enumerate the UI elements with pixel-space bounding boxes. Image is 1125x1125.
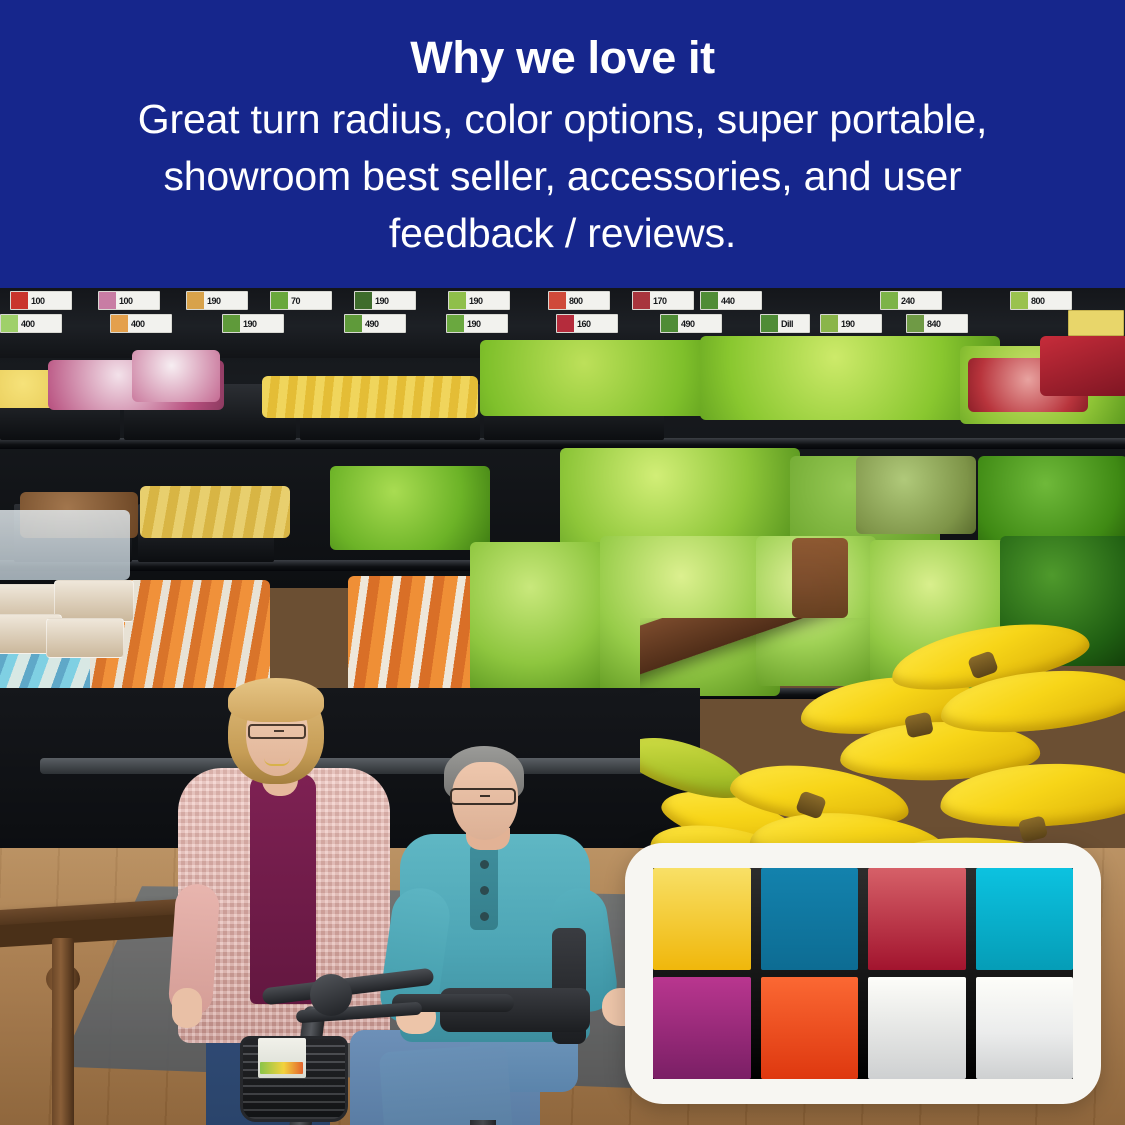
color-swatch-white[interactable]	[976, 977, 1074, 1079]
page-title: Why we love it	[410, 31, 714, 85]
color-options-panel	[625, 843, 1101, 1104]
scooter-tiller-hub	[310, 974, 352, 1016]
price-tag: 100	[10, 291, 72, 310]
price-tag: 840	[906, 314, 968, 333]
color-swatch-yellow[interactable]	[761, 868, 859, 970]
produce-turnips	[132, 350, 220, 402]
color-swatch-black[interactable]	[653, 868, 751, 970]
price-tag: 490	[344, 314, 406, 333]
price-tag: 490	[660, 314, 722, 333]
price-tag: 190	[820, 314, 882, 333]
color-swatch-orange[interactable]	[868, 977, 966, 1079]
price-tag: 800	[1010, 291, 1072, 310]
price-tag: 800	[548, 291, 610, 310]
price-tag: 170	[632, 291, 694, 310]
produce-celery	[330, 466, 490, 550]
header-description: Great turn radius, color options, super …	[68, 91, 1058, 262]
price-tag: 240	[880, 291, 942, 310]
woman-hair-front	[228, 678, 324, 722]
color-swatch-cyan[interactable]	[653, 977, 751, 1079]
header-banner: Why we love it Great turn radius, color …	[0, 0, 1125, 288]
color-swatch-blue[interactable]	[868, 868, 966, 970]
produce-red-chard	[1040, 336, 1125, 396]
produce-bagged-carrots	[348, 576, 488, 694]
header-description-line-3: feedback / reviews.	[68, 205, 1058, 262]
woman-hand	[172, 988, 202, 1028]
scooter-basket-item	[258, 1038, 306, 1078]
produce-artichokes	[856, 456, 976, 534]
man-shirt-button	[480, 886, 489, 895]
man-eyeglasses	[450, 788, 516, 805]
banana-stem	[1018, 815, 1049, 843]
price-tag: 190	[186, 291, 248, 310]
price-tag: 70	[270, 291, 332, 310]
price-tag-row: 100 100 190 70 190 190 800 170 440 240 8…	[0, 288, 1125, 336]
price-tag: 400	[0, 314, 62, 333]
produce-bagged-salad	[0, 510, 130, 580]
woman-shirt-front	[250, 774, 316, 1004]
price-tag: 190	[448, 291, 510, 310]
produce-curly-lettuce	[700, 336, 1000, 420]
display-table-leg	[52, 938, 74, 1125]
price-tag: 160	[556, 314, 618, 333]
price-tag: Dill	[760, 314, 810, 333]
price-tag: 190	[222, 314, 284, 333]
produce-red-leaf	[792, 538, 848, 618]
produce-yellow-beets	[262, 376, 478, 418]
price-tag: 190	[446, 314, 508, 333]
color-swatch-magenta[interactable]	[761, 977, 859, 1079]
woman-necklace	[264, 758, 290, 766]
header-description-line-1: Great turn radius, color options, super …	[68, 91, 1058, 148]
price-tag: 100	[98, 291, 160, 310]
header-description-line-2: showroom best seller, accessories, and u…	[68, 148, 1058, 205]
bakery-package	[54, 580, 134, 622]
color-swatch-grid	[653, 868, 1073, 1079]
produce-parsnips	[140, 486, 290, 538]
promo-card: Why we love it Great turn radius, color …	[0, 0, 1125, 1125]
store-notice-tag	[1068, 310, 1124, 336]
color-swatch-red[interactable]	[976, 868, 1074, 970]
price-tag: 190	[354, 291, 416, 310]
price-tag: 400	[110, 314, 172, 333]
woman-eyeglasses	[248, 724, 306, 739]
produce-romaine-hearts	[470, 542, 620, 692]
man-shirt-button	[480, 912, 489, 921]
scooter-seat-post	[470, 1120, 496, 1125]
bakery-package	[46, 618, 124, 658]
price-tag: 440	[700, 291, 762, 310]
man-shirt-button	[480, 860, 489, 869]
produce-cucumbers	[978, 456, 1125, 548]
man-jeans-shin	[379, 1044, 517, 1125]
